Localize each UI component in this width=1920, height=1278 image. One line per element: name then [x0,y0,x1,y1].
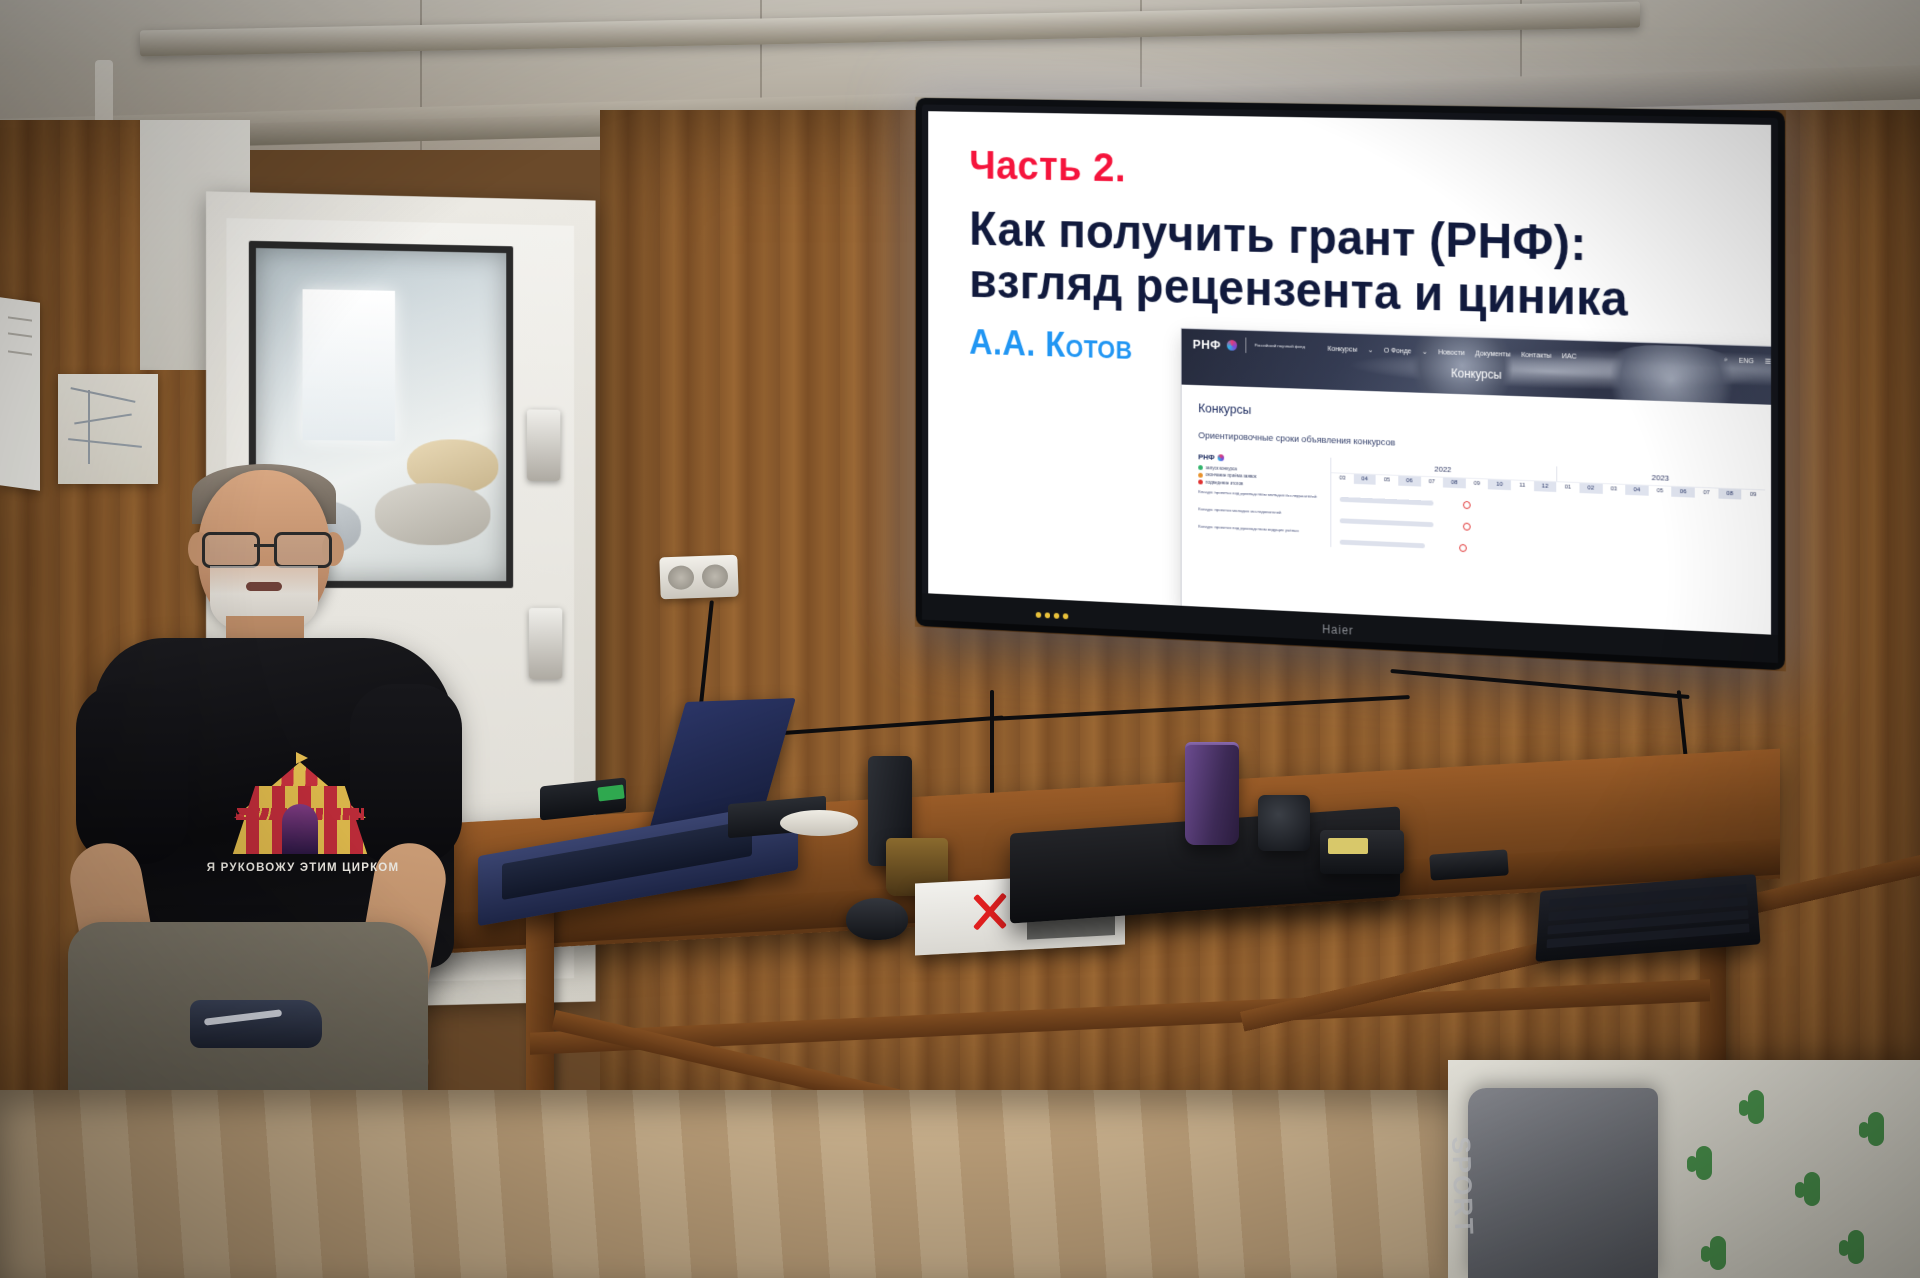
timeline-month: 07 [1695,488,1718,499]
tv-remote[interactable] [1429,849,1509,880]
timeline-month: 09 [1466,479,1489,490]
chevron-down-icon: ⌄ [1422,346,1428,355]
site-content: Конкурсы Ориентировочные сроки объявлени… [1182,385,1771,568]
window-behind-door [303,289,395,441]
nav-item-dokumenty[interactable]: Документы [1475,348,1511,358]
timeline-month: 10 [1488,479,1511,490]
timeline-legend-panel: РНФ запуск конкурса окончание приёма зая… [1198,453,1321,547]
timeline-month: 01 [1556,482,1579,493]
door-hinge [529,608,562,679]
embedded-website-screenshot: РНФ Российский научный фонд Конкурсы ⌄ О… [1182,329,1771,635]
door-hinge [527,409,560,481]
camera-lens[interactable] [1258,795,1310,851]
eyeglasses [202,532,326,562]
circus-tent-graphic: Я РУКОВОЖУ ЭТИМ ЦИРКОМ [220,762,380,872]
timeline-month: 04 [1354,474,1376,485]
wall-mounted-tv[interactable]: Часть 2. Как получить грант (РНФ): взгля… [922,104,1778,663]
timeline-month: 05 [1376,475,1398,486]
timeline-month: 11 [1511,480,1534,491]
site-nav-right[interactable]: ⌕ ENG ☰ [1724,356,1771,365]
timeline-month: 06 [1398,476,1420,487]
tv-status-leds [1036,612,1069,619]
timeline-month: 05 [1648,486,1671,497]
power-adapter[interactable] [1320,830,1404,874]
slide-title: Как получить грант (РНФ): взгляд рецензе… [969,203,1731,330]
timeline-month: 06 [1672,487,1695,498]
photo-scene: Часть 2. Как получить грант (РНФ): взгля… [0,0,1920,1278]
rnf-logo-mark-icon [1218,454,1224,461]
timeline-month: 03 [1331,473,1353,484]
timeline-month: 02 [1579,483,1602,494]
timeline-month: 12 [1534,481,1557,492]
nav-item-novosti[interactable]: Новости [1438,347,1465,357]
timeline-month: 09 [1742,490,1765,501]
legend-label: окончание приёма заявок [1206,472,1257,479]
slide-part-label: Часть 2. [969,144,1731,202]
competitions-timeline: РНФ запуск конкурса окончание приёма зая… [1198,453,1765,567]
paper-sheet [0,297,40,491]
shoe [190,1000,322,1048]
nav-item-ias[interactable]: ИАС [1562,351,1577,360]
site-page-heading: Конкурсы [1198,401,1765,436]
map-sheet [58,374,158,484]
computer-mouse[interactable] [846,898,908,940]
tshirt-slogan: Я РУКОВОЖУ ЭТИМ ЦИРКОМ [204,862,402,874]
timeline-rnf-logo: РНФ [1198,453,1321,466]
nav-item-kontakty[interactable]: Контакты [1521,349,1551,359]
rnf-logo: РНФ Российский научный фонд [1193,336,1305,355]
sleeve-left [76,684,188,864]
legend-label: запуск конкурса [1206,465,1237,471]
timeline-month: 04 [1625,485,1648,496]
site-hero-title: Конкурсы [1451,366,1502,381]
site-nav: РНФ Российский научный фонд Конкурсы ⌄ О… [1182,329,1771,370]
site-nav-links[interactable]: Конкурсы ⌄ О Фонде ⌄ Новости Документы К… [1328,343,1577,360]
tv-screen: Часть 2. Как получить грант (РНФ): взгля… [928,111,1771,634]
rnf-logo-subtitle: Российский научный фонд [1254,343,1305,350]
legend-label: подведение итогов [1206,479,1243,485]
timeline-row-label: Конкурс проектов молодых исследователей [1198,506,1321,524]
garment-print: SPORT [1445,1136,1482,1278]
travel-tumbler[interactable] [1185,745,1239,845]
timeline-grid: 2022 2023 03 04 05 06 07 08 [1330,458,1765,567]
grey-garment: SPORT [1468,1088,1658,1278]
power-outlet[interactable] [659,555,738,600]
rnf-logo-text: РНФ [1193,336,1221,351]
lang-switch-eng[interactable]: ENG [1739,357,1754,364]
rnf-logo-mark-icon [1227,339,1237,350]
nav-item-konkursy[interactable]: Конкурсы [1328,343,1358,353]
mouth [246,582,282,591]
menu-icon[interactable]: ☰ [1765,358,1771,366]
red-x-icon [965,889,1009,935]
timeline-month: 03 [1602,484,1625,495]
timeline-month: 08 [1443,478,1466,489]
search-icon[interactable]: ⌕ [1724,356,1728,364]
timeline-row-label: Конкурс проектов под руководством молоды… [1198,489,1321,507]
nav-item-o-fonde[interactable]: О Фонде [1384,345,1412,355]
presentation-slide: Часть 2. Как получить грант (РНФ): взгля… [928,111,1771,634]
timeline-month: 07 [1421,477,1443,488]
timeline-month: 08 [1718,489,1741,500]
tv-brand-label: Haier [1322,622,1354,637]
saucer-dish [780,810,858,836]
chevron-down-icon: ⌄ [1368,345,1374,354]
timeline-legend: запуск конкурса окончание приёма заявок … [1198,465,1321,489]
timeline-row-label: Конкурс проектов под руководством ведущи… [1198,524,1321,542]
timeline-logo-text: РНФ [1198,453,1215,462]
